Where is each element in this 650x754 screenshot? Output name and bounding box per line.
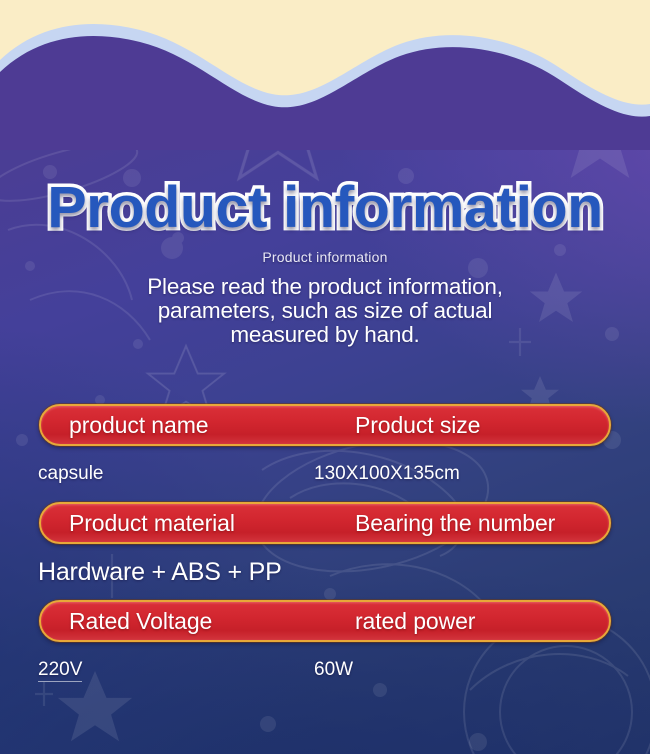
- product-information-banner: Product information Product information …: [0, 0, 650, 754]
- spec-header-col2: Product size: [355, 412, 480, 439]
- spec-block-2: Product material Bearing the number Hard…: [0, 502, 650, 600]
- spec-value-row: capsule 130X100X135cm: [0, 446, 650, 502]
- lead-line-3: measured by hand.: [0, 323, 650, 347]
- lead-line-1: Please read the product information,: [0, 275, 650, 299]
- spec-block-1: product name Product size capsule 130X10…: [0, 404, 650, 502]
- spec-header-col1: product name: [69, 412, 355, 439]
- spec-value-col2: 130X100X135cm: [314, 463, 460, 485]
- spec-header-col1: Product material: [69, 510, 355, 537]
- page-title: Product information: [0, 178, 650, 237]
- spec-value-col2: 60W: [314, 659, 353, 681]
- spec-value-col1: Hardware + ABS + PP: [38, 558, 314, 587]
- header-block: Product information Product information …: [0, 178, 650, 347]
- spec-header-row: product name Product size: [39, 404, 611, 446]
- spec-header-col2: rated power: [355, 608, 475, 635]
- lead-paragraph: Please read the product information, par…: [0, 275, 650, 347]
- spec-header-col2: Bearing the number: [355, 510, 555, 537]
- spec-value-col1: capsule: [38, 463, 314, 485]
- spec-value-row: 220V 60W: [0, 642, 650, 698]
- lead-line-2: parameters, such as size of actual: [0, 299, 650, 323]
- spec-value-row: Hardware + ABS + PP: [0, 544, 650, 600]
- spec-header-row: Product material Bearing the number: [39, 502, 611, 544]
- spec-block-3: Rated Voltage rated power 220V 60W: [0, 600, 650, 698]
- spec-value-col1: 220V: [38, 659, 314, 681]
- spec-table: product name Product size capsule 130X10…: [0, 404, 650, 698]
- spec-header-row: Rated Voltage rated power: [39, 600, 611, 642]
- page-subtitle: Product information: [0, 249, 650, 265]
- spec-value-col1-text: 220V: [38, 659, 82, 682]
- spec-header-col1: Rated Voltage: [69, 608, 355, 635]
- top-wave-decoration: [0, 0, 650, 150]
